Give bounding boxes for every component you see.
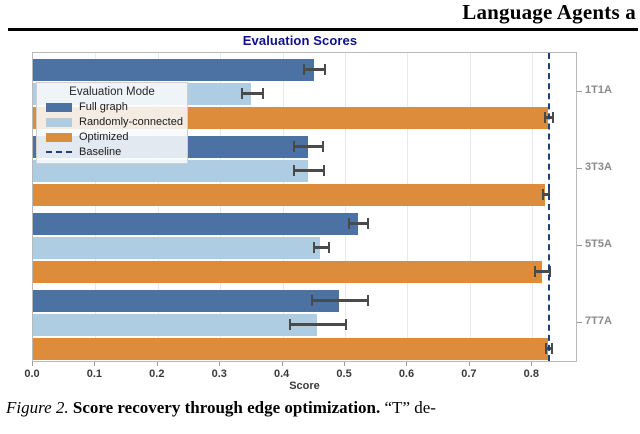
y-tick-mark — [577, 322, 582, 323]
legend-swatch-full-graph-icon — [46, 103, 72, 112]
error-bar-cap — [534, 266, 536, 277]
gridline — [407, 53, 408, 361]
chart-title: Evaluation Scores — [0, 33, 600, 48]
error-bar — [311, 299, 367, 302]
paper-running-header: Language Agents a — [0, 0, 640, 30]
x-axis-label: Score — [32, 380, 577, 392]
bar-5t5a-randomly-connected[interactable] — [33, 237, 320, 259]
error-bar-cap — [328, 242, 330, 253]
y-tick-label-1t1a: 1T1A — [585, 84, 612, 96]
y-tick-mark — [577, 91, 582, 92]
x-tick-label: 0.1 — [74, 368, 114, 380]
caption-rest-text: “T” de- — [385, 398, 436, 417]
error-bar-cap — [293, 165, 295, 176]
x-tick-label: 0.5 — [324, 368, 364, 380]
y-tick-label-3t3a: 3T3A — [585, 161, 612, 173]
error-bar-cap — [303, 64, 305, 75]
legend-swatch-randomly-connected-icon — [46, 118, 72, 127]
error-bar-cap — [348, 218, 350, 229]
figure-chart: Evaluation Scores 0.00.10.20.30.40.50.60… — [0, 31, 640, 396]
x-tick-mark — [282, 362, 283, 366]
x-tick-mark — [219, 362, 220, 366]
x-tick-label: 0.7 — [449, 368, 489, 380]
error-bar-cap — [324, 64, 326, 75]
bar-7t7a-randomly-connected[interactable] — [33, 314, 317, 336]
x-tick-mark — [344, 362, 345, 366]
x-tick-mark — [406, 362, 407, 366]
error-bar-cap — [345, 319, 347, 330]
legend-item-randomly-connected[interactable]: Randomly-connected — [42, 115, 182, 129]
bar-3t3a-optimized[interactable] — [33, 184, 545, 206]
legend-label-randomly-connected: Randomly-connected — [79, 116, 183, 128]
x-tick-label: 0.4 — [262, 368, 302, 380]
error-bar-cap — [262, 88, 264, 99]
x-tick-mark — [32, 362, 33, 366]
error-bar-cap — [289, 319, 291, 330]
y-tick-mark — [577, 168, 582, 169]
error-bar-cap — [322, 141, 324, 152]
x-tick-label: 0.6 — [386, 368, 426, 380]
caption-figure-number: Figure 2. — [6, 398, 69, 417]
error-bar-cap — [367, 295, 369, 306]
error-bar — [293, 169, 323, 172]
error-bar — [241, 92, 262, 95]
y-tick-mark — [577, 245, 582, 246]
error-bar — [303, 68, 324, 71]
gridline — [470, 53, 471, 361]
error-bar — [293, 145, 322, 148]
bar-7t7a-full-graph[interactable] — [33, 290, 339, 312]
error-bar-cap — [544, 112, 546, 123]
y-tick-label-5t5a: 5T5A — [585, 238, 612, 250]
error-bar-cap — [551, 343, 553, 354]
x-tick-label: 0.8 — [511, 368, 551, 380]
x-tick-mark — [469, 362, 470, 366]
y-tick-label-7t7a: 7T7A — [585, 315, 612, 327]
legend-dashed-line-icon — [46, 151, 72, 153]
legend-item-baseline[interactable]: Baseline — [42, 145, 182, 159]
paper-title-text: Language Agents a — [462, 0, 636, 25]
legend-title: Evaluation Mode — [42, 86, 182, 98]
error-bar — [534, 270, 549, 273]
error-bar-cap — [552, 112, 554, 123]
bar-5t5a-optimized[interactable] — [33, 261, 542, 283]
baseline-reference-line — [548, 53, 550, 361]
legend-item-full-graph[interactable]: Full graph — [42, 100, 182, 114]
chart-legend: Evaluation Mode Full graph Randomly-conn… — [36, 82, 188, 164]
bar-1t1a-full-graph[interactable] — [33, 59, 314, 81]
error-bar-cap — [241, 88, 243, 99]
x-tick-label: 0.3 — [199, 368, 239, 380]
figure-caption: Figure 2. Score recovery through edge op… — [6, 398, 640, 418]
x-tick-label: 0.2 — [137, 368, 177, 380]
error-bar-cap — [311, 295, 313, 306]
gridline — [532, 53, 533, 361]
x-tick-mark — [531, 362, 532, 366]
legend-label-optimized: Optimized — [79, 131, 129, 143]
error-bar-cap — [367, 218, 369, 229]
x-tick-mark — [94, 362, 95, 366]
error-bar-cap — [545, 343, 547, 354]
error-bar — [348, 222, 367, 225]
legend-swatch-optimized-icon — [46, 133, 72, 142]
legend-item-optimized[interactable]: Optimized — [42, 130, 182, 144]
bar-7t7a-optimized[interactable] — [33, 338, 548, 360]
x-tick-label: 0.0 — [12, 368, 52, 380]
error-bar-cap — [323, 165, 325, 176]
caption-bold-text: Score recovery through edge optimization… — [73, 398, 380, 417]
bar-5t5a-full-graph[interactable] — [33, 213, 358, 235]
legend-label-baseline: Baseline — [79, 146, 121, 158]
legend-label-full-graph: Full graph — [79, 101, 128, 113]
error-bar — [289, 323, 345, 326]
error-bar-cap — [313, 242, 315, 253]
gridline — [345, 53, 346, 361]
x-tick-mark — [157, 362, 158, 366]
error-bar-cap — [542, 189, 544, 200]
error-bar — [313, 246, 328, 249]
error-bar-cap — [293, 141, 295, 152]
